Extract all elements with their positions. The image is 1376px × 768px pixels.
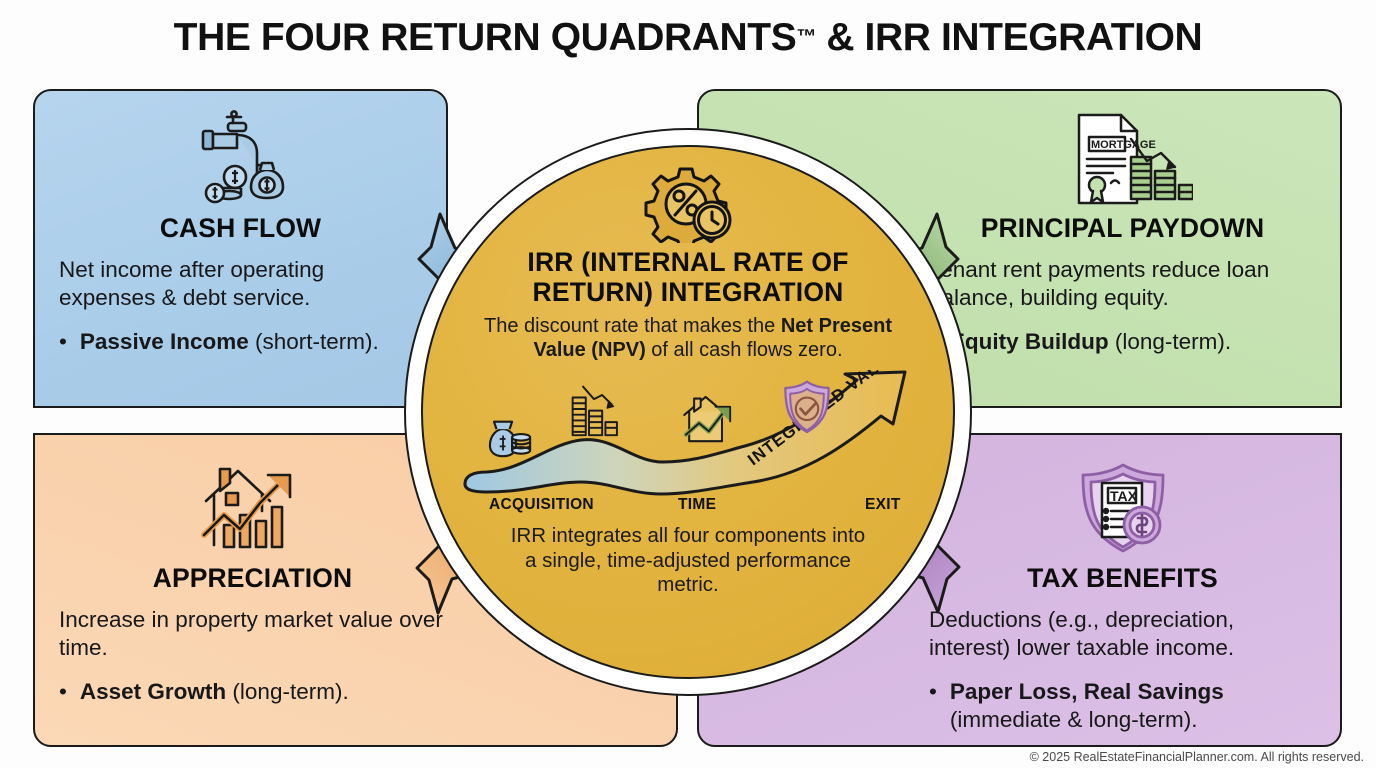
chart-tick-label-time: TIME	[678, 496, 716, 514]
center-subtitle: The discount rate that makes the Net Pre…	[478, 315, 898, 362]
house-uptrend-icon	[684, 397, 730, 441]
center-footer-text: IRR integrates all four components into …	[508, 524, 868, 598]
gear-percent-clock-icon	[636, 165, 740, 243]
center-subtitle-post: of all cash flows zero.	[646, 339, 843, 361]
footer-copyright: © 2025 RealEstateFinancialPlanner.com. A…	[1030, 750, 1364, 764]
center-title: IRR (INTERNAL RATE OF RETURN) INTEGRATIO…	[527, 247, 848, 308]
chart-tick-label-exit: EXIT	[865, 496, 901, 514]
center-title-line-1: IRR (INTERNAL RATE OF	[527, 247, 848, 277]
declining-bars-icon	[573, 386, 617, 435]
center-subtitle-pre: The discount rate that makes the	[484, 315, 781, 337]
infographic-canvas: THE FOUR RETURN QUADRANTS™ & IRR INTEGRA…	[0, 0, 1376, 768]
chart-tick-label-acquisition: ACQUISITION	[489, 496, 594, 514]
money-bag-coins-icon	[490, 422, 530, 456]
center-content: IRR (INTERNAL RATE OF RETURN) INTEGRATIO…	[421, 145, 955, 679]
center-title-line-2: RETURN) INTEGRATION	[527, 277, 848, 307]
integrated-value-chart: INTEGRATED VALUE	[453, 370, 923, 518]
